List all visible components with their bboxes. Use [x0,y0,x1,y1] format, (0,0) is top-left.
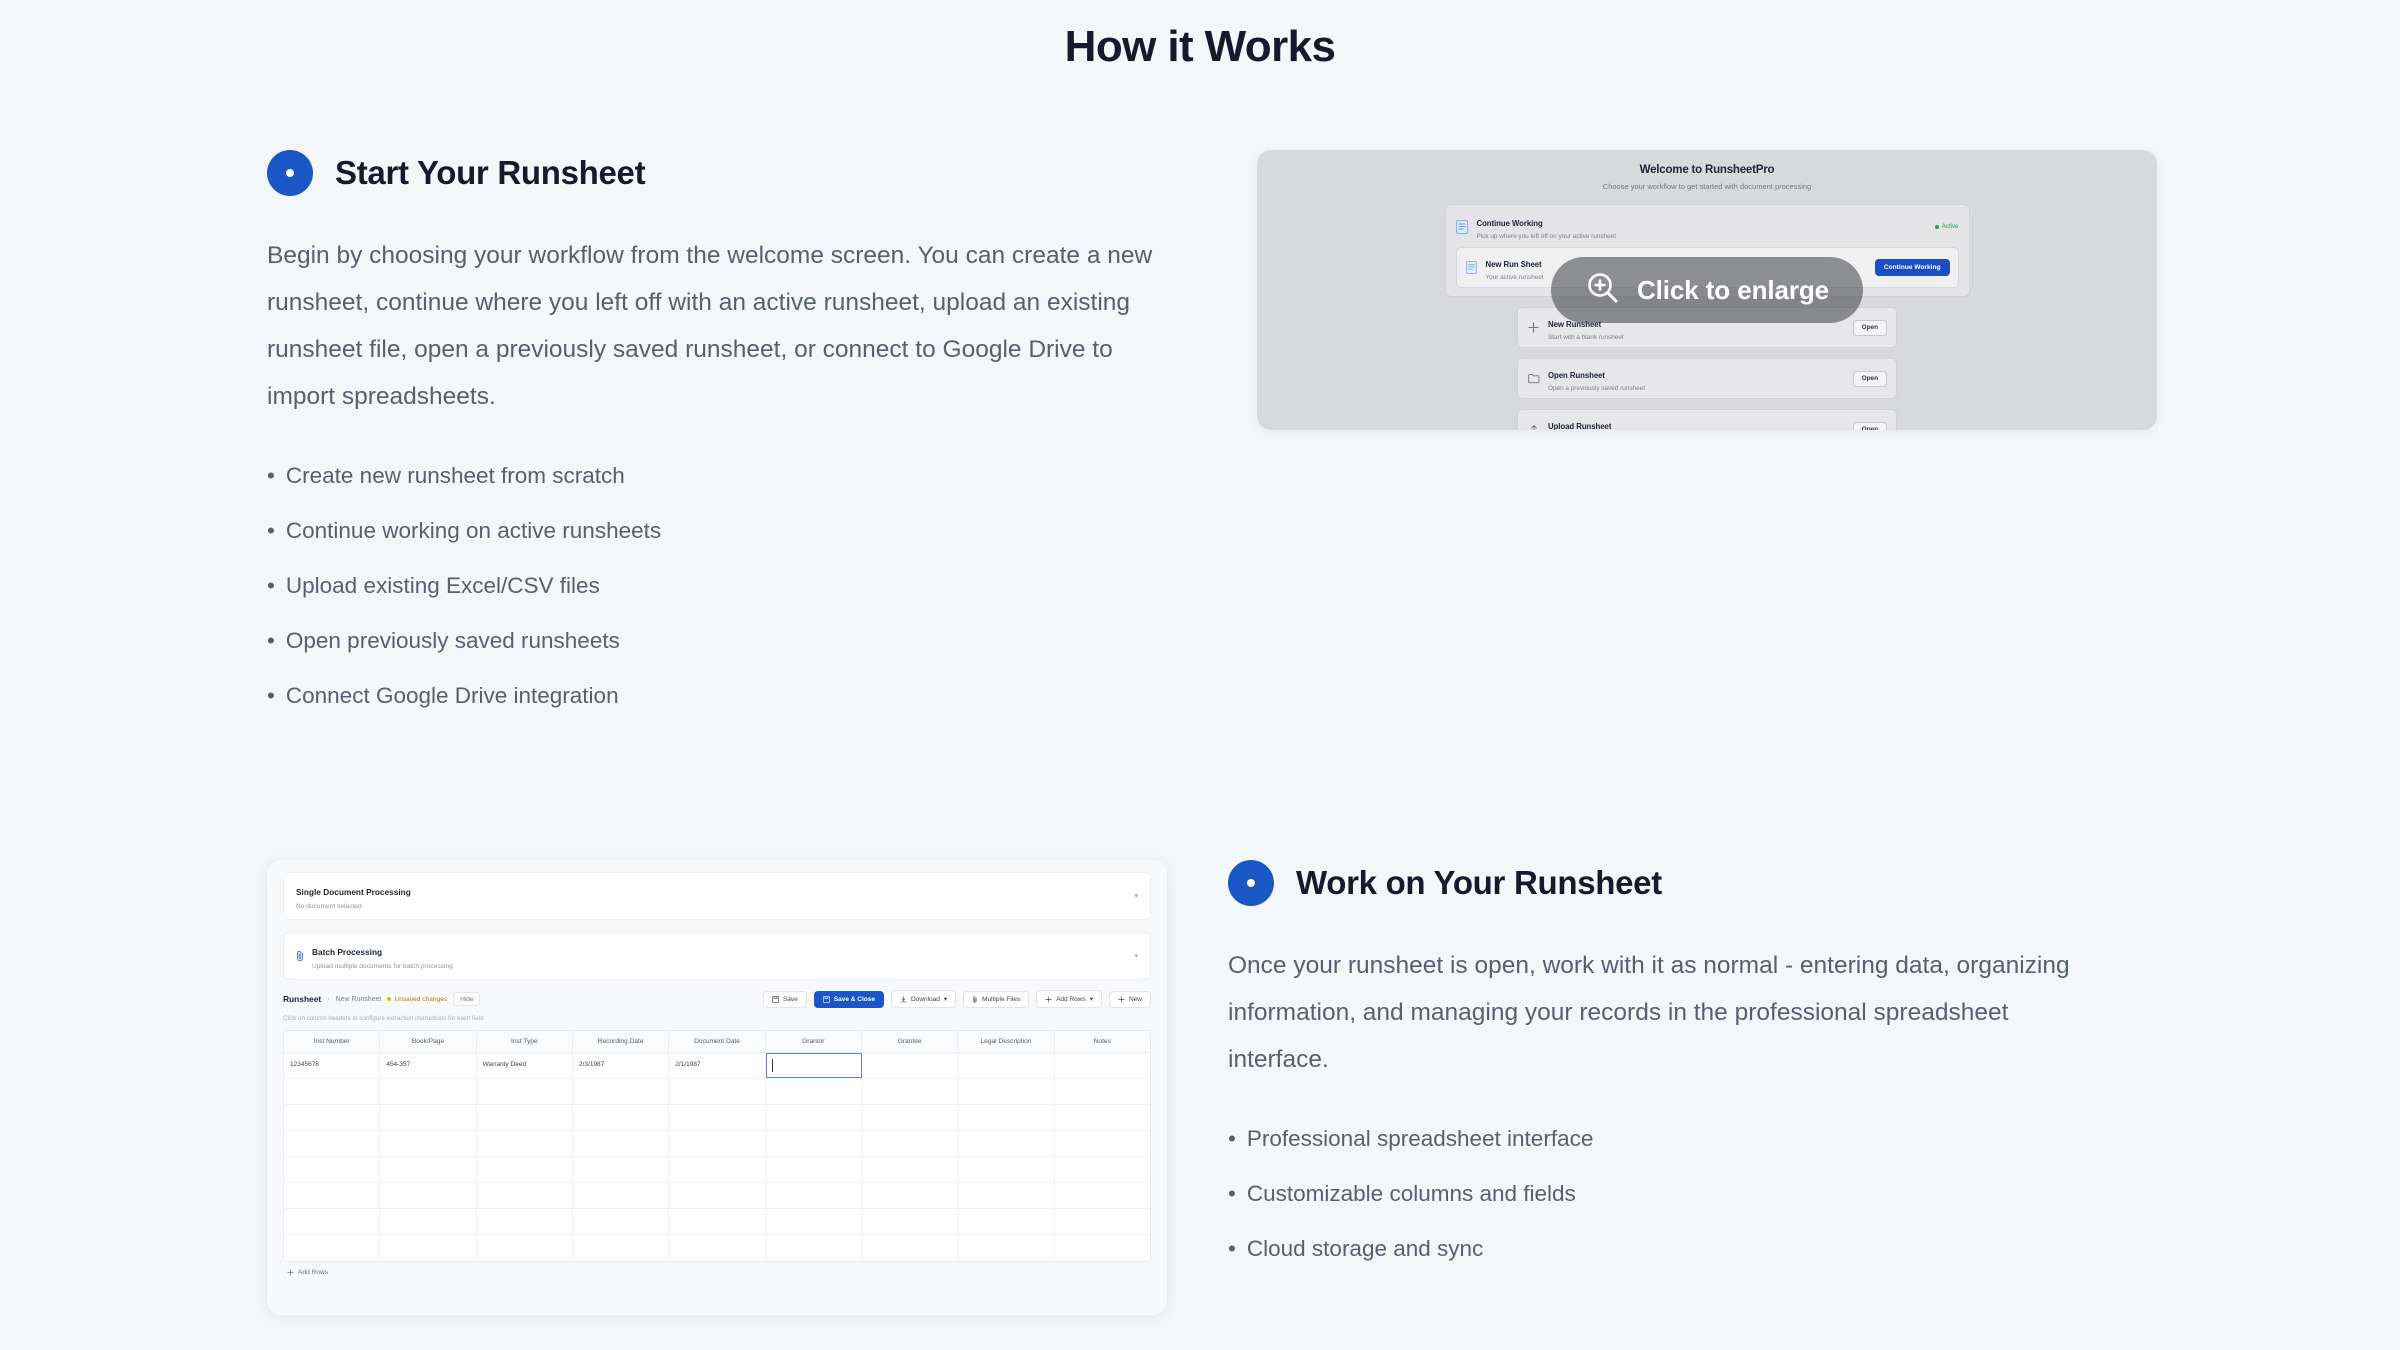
table-cell[interactable] [766,1131,862,1156]
table-cell[interactable] [862,1131,958,1156]
folder-open-icon [1527,371,1540,386]
magnifier-plus-icon [1585,270,1621,311]
chevron-down-icon[interactable]: ▾ [1134,952,1138,960]
table-cell[interactable] [380,1079,476,1104]
table-cell[interactable] [766,1105,862,1130]
table-cell[interactable] [958,1053,1054,1078]
plus-icon [287,1269,294,1276]
unsaved-changes-label: Unsaved changes [394,996,447,1003]
table-cell[interactable] [477,1157,573,1182]
breadcrumb-separator: › [327,996,329,1003]
runsheet-toolbar: Runsheet › New Runsheet Unsaved changes … [283,990,1151,1008]
table-row [284,1183,1150,1209]
table-cell[interactable] [573,1209,669,1234]
column-header[interactable]: Inst Type [477,1031,573,1052]
table-cell[interactable] [477,1131,573,1156]
plus-icon [1527,320,1540,335]
unsaved-changes-badge: Unsaved changes [387,996,447,1003]
continue-working-desc: Pick up where you left off on your activ… [1477,233,1927,240]
runsheet-table: Inst Number Book/Page Inst Type Recordin… [283,1030,1151,1262]
list-item: •Customizable columns and fields [1228,1166,2133,1221]
continue-working-title: Continue Working [1477,219,1543,228]
plus-icon [1118,996,1125,1003]
table-cell-selected[interactable] [766,1053,862,1078]
open-button[interactable]: Open [1853,320,1887,336]
column-header[interactable]: Legal Description [958,1031,1054,1052]
active-runsheet-title: New Run Sheet [1486,260,1542,269]
page-title: How it Works [0,0,2400,72]
bullet-marker: • [1228,1236,1236,1261]
table-cell[interactable] [958,1131,1054,1156]
table-cell[interactable] [1055,1235,1150,1261]
column-header[interactable]: Notes [1055,1031,1150,1052]
table-cell[interactable] [862,1183,958,1208]
table-cell[interactable] [477,1209,573,1234]
open-button[interactable]: Open [1853,422,1887,431]
workflow-card-text: Open Runsheet Open a previously saved ru… [1548,365,1845,392]
table-cell[interactable] [284,1131,380,1156]
table-cell[interactable] [669,1157,765,1182]
table-cell[interactable] [1055,1053,1150,1078]
section-2-bullet-list: •Professional spreadsheet interface •Cus… [1228,1111,2133,1276]
table-cell[interactable] [284,1079,380,1104]
table-cell[interactable] [284,1235,380,1261]
single-doc-title: Single Document Processing [296,887,411,897]
continue-working-text: Continue Working Pick up where you left … [1477,213,1927,240]
breadcrumb-root[interactable]: Runsheet [283,994,321,1004]
paperclip-icon [972,996,978,1003]
add-rows-footer-label: Add Rows [298,1269,328,1276]
list-item: •Cloud storage and sync [1228,1221,2133,1276]
table-cell[interactable] [573,1131,669,1156]
workflow-card-upload-runsheet[interactable]: Upload Runsheet Upload files from your d… [1517,409,1897,430]
table-cell[interactable] [958,1157,1054,1182]
save-icon [823,996,830,1003]
section-2-description: Once your runsheet is open, work with it… [1228,942,2108,1083]
section-work-on-your-runsheet: Single Document Processing No document s… [267,860,2133,1315]
list-item-label: Upload existing Excel/CSV files [286,573,600,598]
how-it-works-page: How it Works Start Your Runsheet Begin b… [0,0,2400,1350]
list-item-label: Open previously saved runsheets [286,628,620,653]
table-cell[interactable] [380,1235,476,1261]
table-cell[interactable] [1055,1131,1150,1156]
bullet-marker: • [1228,1126,1236,1151]
table-cell[interactable] [284,1105,380,1130]
welcome-screen-thumbnail[interactable]: Welcome to RunsheetPro Choose your workf… [1257,150,2157,430]
click-to-enlarge-label: Click to enlarge [1637,275,1829,306]
table-cell[interactable]: Warranty Deed [477,1053,573,1078]
section-2-title: Work on Your Runsheet [1296,864,1662,902]
table-cell[interactable] [669,1235,765,1261]
batch-title: Batch Processing [312,947,382,957]
table-cell[interactable] [573,1079,669,1104]
table-cell[interactable] [573,1105,669,1130]
column-header[interactable]: Inst Number [284,1031,380,1052]
table-cell[interactable]: 12345678 [284,1053,380,1078]
list-item: •Upload existing Excel/CSV files [267,558,1172,613]
table-cell[interactable] [1055,1183,1150,1208]
bullet-marker: • [267,463,275,488]
add-rows-button[interactable]: Add Rows ▾ [1036,990,1102,1008]
spreadsheet-thumbnail[interactable]: Single Document Processing No document s… [267,860,1167,1315]
batch-desc: Upload multiple documents for batch proc… [312,963,1134,970]
table-cell[interactable] [284,1183,380,1208]
list-item: •Connect Google Drive integration [267,668,1172,723]
table-cell[interactable] [477,1235,573,1261]
table-row [284,1157,1150,1183]
section-1-title: Start Your Runsheet [335,154,645,192]
table-cell[interactable] [958,1209,1054,1234]
table-cell[interactable] [380,1183,476,1208]
list-item-label: Cloud storage and sync [1247,1236,1483,1261]
single-doc-text: Single Document Processing No document s… [296,882,1134,910]
hide-chip[interactable]: Hide [453,992,480,1006]
table-row [284,1131,1150,1157]
list-item: •Professional spreadsheet interface [1228,1111,2133,1166]
chevron-down-icon: ▾ [1090,995,1093,1003]
workflow-card-title: Open Runsheet [1548,371,1605,380]
bullet-marker: • [267,518,275,543]
breadcrumb: Runsheet › New Runsheet Unsaved changes … [283,992,763,1006]
add-rows-label: Add Rows [1056,996,1086,1003]
table-cell[interactable] [766,1235,862,1261]
upload-icon [1527,422,1540,430]
workflow-card-text: Upload Runsheet Upload files from your d… [1548,416,1845,430]
section-1-header: Start Your Runsheet [267,150,1172,196]
bullet-marker: • [1228,1181,1236,1206]
table-cell[interactable] [1055,1105,1150,1130]
table-cell[interactable] [766,1209,862,1234]
column-header[interactable]: Book/Page [380,1031,476,1052]
table-cell[interactable] [766,1079,862,1104]
plus-icon [1045,996,1052,1003]
click-to-enlarge-overlay[interactable]: Click to enlarge [1551,257,1863,323]
table-cell[interactable] [669,1131,765,1156]
table-cell[interactable] [958,1105,1054,1130]
section-2-text-column: Work on Your Runsheet Once your runsheet… [1228,860,2133,1276]
save-button-label: Save [783,996,798,1003]
welcome-heading: Welcome to RunsheetPro [1257,164,2157,176]
table-cell[interactable] [862,1053,958,1078]
download-button[interactable]: Download ▾ [891,990,956,1008]
bullet-marker: • [267,628,275,653]
column-header[interactable]: Grantor [766,1031,862,1052]
list-item: •Continue working on active runsheets [267,503,1172,558]
table-row [284,1235,1150,1261]
multiple-files-label: Multiple Files [982,996,1020,1003]
download-button-label: Download [911,996,940,1003]
save-icon [772,996,779,1003]
table-row [284,1209,1150,1235]
chevron-down-icon[interactable]: ▾ [1134,892,1138,900]
continue-working-row: Continue Working Pick up where you left … [1456,213,1959,240]
single-doc-desc: No document selected [296,903,1134,910]
table-cell[interactable] [766,1157,862,1182]
section-1-media-column: Welcome to RunsheetPro Choose your workf… [1257,150,2157,430]
table-cell[interactable] [862,1157,958,1182]
table-cell[interactable] [669,1079,765,1104]
table-row [284,1079,1150,1105]
multiple-files-button[interactable]: Multiple Files [963,991,1029,1008]
table-cell[interactable] [862,1105,958,1130]
step-dot-icon [267,150,313,196]
new-button-label: New [1129,996,1142,1003]
table-cell[interactable] [573,1235,669,1261]
table-cell[interactable] [477,1105,573,1130]
table-cell[interactable] [669,1183,765,1208]
table-cell[interactable] [862,1209,958,1234]
column-header[interactable]: Recording Date [573,1031,669,1052]
table-cell[interactable]: 454-357 [380,1053,476,1078]
status-badge-label: Active [1942,223,1959,230]
status-badge: Active [1935,223,1959,230]
column-header[interactable]: Document Date [669,1031,765,1052]
section-1-description: Begin by choosing your workflow from the… [267,232,1157,420]
workflow-card-title: Upload Runsheet [1548,422,1611,430]
section-1-bullet-list: •Create new runsheet from scratch •Conti… [267,448,1172,723]
spreadsheet-preview: Single Document Processing No document s… [267,860,1167,1315]
table-cell[interactable] [573,1183,669,1208]
batch-processing-card[interactable]: Batch Processing Upload multiple documen… [283,932,1151,980]
table-cell[interactable] [862,1079,958,1104]
table-cell[interactable] [1055,1079,1150,1104]
step-dot-icon [1228,860,1274,906]
new-button[interactable]: New [1109,991,1151,1008]
save-button[interactable]: Save [763,991,807,1008]
table-cell[interactable] [477,1183,573,1208]
table-cell[interactable] [380,1131,476,1156]
section-2-header: Work on Your Runsheet [1228,860,2133,906]
column-config-hint: Click on column headers to configure ext… [283,1015,1151,1022]
table-cell[interactable]: 2/1/1987 [669,1053,765,1078]
table-cell[interactable]: 2/3/1987 [573,1053,669,1078]
breadcrumb-current: New Runsheet [336,996,382,1003]
welcome-subheading: Choose your workflow to get started with… [1257,182,2157,191]
batch-text: Batch Processing Upload multiple documen… [312,942,1134,970]
table-cell[interactable] [766,1183,862,1208]
download-icon [900,996,907,1003]
section-start-your-runsheet: Start Your Runsheet Begin by choosing yo… [267,150,2133,723]
toolbar-buttons: Save Save & Close Download ▾ [763,990,1151,1008]
table-cell[interactable] [477,1079,573,1104]
table-cell[interactable] [573,1157,669,1182]
table-row [284,1105,1150,1131]
list-item: •Open previously saved runsheets [267,613,1172,668]
table-cell[interactable] [380,1157,476,1182]
chevron-down-icon: ▾ [944,995,947,1003]
table-cell[interactable] [669,1105,765,1130]
column-header[interactable]: Grantee [862,1031,958,1052]
table-row: 12345678 454-357 Warranty Deed 2/3/1987 … [284,1053,1150,1079]
table-cell[interactable] [1055,1209,1150,1234]
table-cell[interactable] [958,1235,1054,1261]
list-item-label: Connect Google Drive integration [286,683,619,708]
list-item-label: Continue working on active runsheets [286,518,661,543]
document-icon [1465,260,1478,275]
table-cell[interactable] [1055,1157,1150,1182]
single-document-processing-card[interactable]: Single Document Processing No document s… [283,872,1151,920]
table-cell[interactable] [862,1235,958,1261]
bullet-marker: • [267,683,275,708]
list-item-label: Create new runsheet from scratch [286,463,625,488]
section-2-media-column: Single Document Processing No document s… [267,860,1173,1315]
table-cell[interactable] [284,1209,380,1234]
workflow-card-desc: Start with a blank runsheet [1548,334,1845,341]
list-item-label: Professional spreadsheet interface [1247,1126,1593,1151]
save-and-close-button[interactable]: Save & Close [814,991,884,1008]
workflow-card-desc: Open a previously saved runsheet [1548,385,1845,392]
table-cell[interactable] [380,1209,476,1234]
table-cell[interactable] [284,1157,380,1182]
table-cell[interactable] [380,1105,476,1130]
table-cell[interactable] [669,1209,765,1234]
open-button[interactable]: Open [1853,371,1887,387]
document-icon [1456,219,1469,234]
save-and-close-label: Save & Close [834,996,875,1003]
table-cell[interactable] [958,1079,1054,1104]
bullet-marker: • [267,573,275,598]
table-header-row: Inst Number Book/Page Inst Type Recordin… [284,1031,1150,1053]
table-cell[interactable] [958,1183,1054,1208]
list-item-label: Customizable columns and fields [1247,1181,1576,1206]
list-item: •Create new runsheet from scratch [267,448,1172,503]
add-rows-footer-button[interactable]: Add Rows [287,1269,1167,1276]
workflow-card-open-runsheet[interactable]: Open Runsheet Open a previously saved ru… [1517,358,1897,399]
paperclip-icon [296,950,305,962]
continue-working-button[interactable]: Continue Working [1875,259,1950,276]
section-1-text-column: Start Your Runsheet Begin by choosing yo… [267,150,1172,723]
